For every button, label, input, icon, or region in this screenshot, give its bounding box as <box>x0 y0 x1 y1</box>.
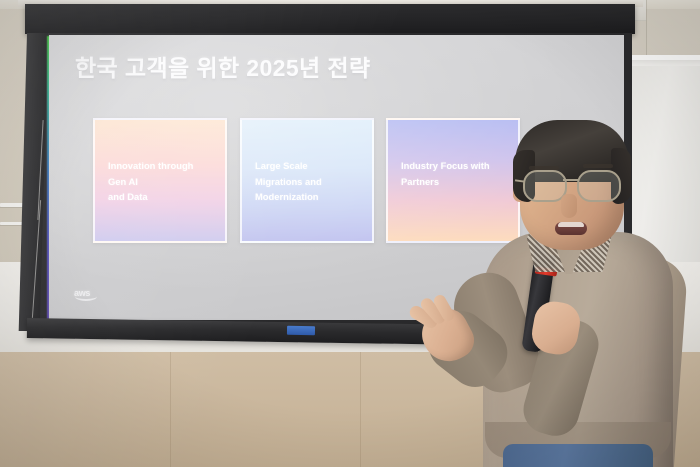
slide-card-migrations: Large Scale Migrations and Modernization <box>240 118 374 243</box>
presenter <box>425 122 700 467</box>
presenter-nose <box>561 194 577 218</box>
glasses-bridge <box>563 179 579 181</box>
aws-logo-smile <box>75 292 97 301</box>
lower-wall-seam <box>170 352 171 467</box>
slide-card-innovation: Innovation through Gen AI and Data <box>93 118 227 243</box>
presenter-eyebrow-right <box>583 164 613 168</box>
projector-screen-housing <box>25 4 635 34</box>
aws-logo-icon: aws <box>74 283 100 299</box>
slide-card-migrations-text: Large Scale Migrations and Modernization <box>255 158 370 205</box>
slide-card-innovation-text: Innovation through Gen AI and Data <box>108 158 223 205</box>
presenter-teeth <box>558 222 584 227</box>
slide-title: 한국 고객을 위한 2025년 전략 <box>75 49 371 83</box>
screenshot-root: 한국 고객을 위한 2025년 전략 Innovation through Ge… <box>0 0 700 467</box>
lower-wall-seam <box>360 352 361 467</box>
presenter-jeans <box>503 444 653 467</box>
screen-brand-badge <box>287 326 315 335</box>
glasses-lens-right <box>577 170 621 202</box>
